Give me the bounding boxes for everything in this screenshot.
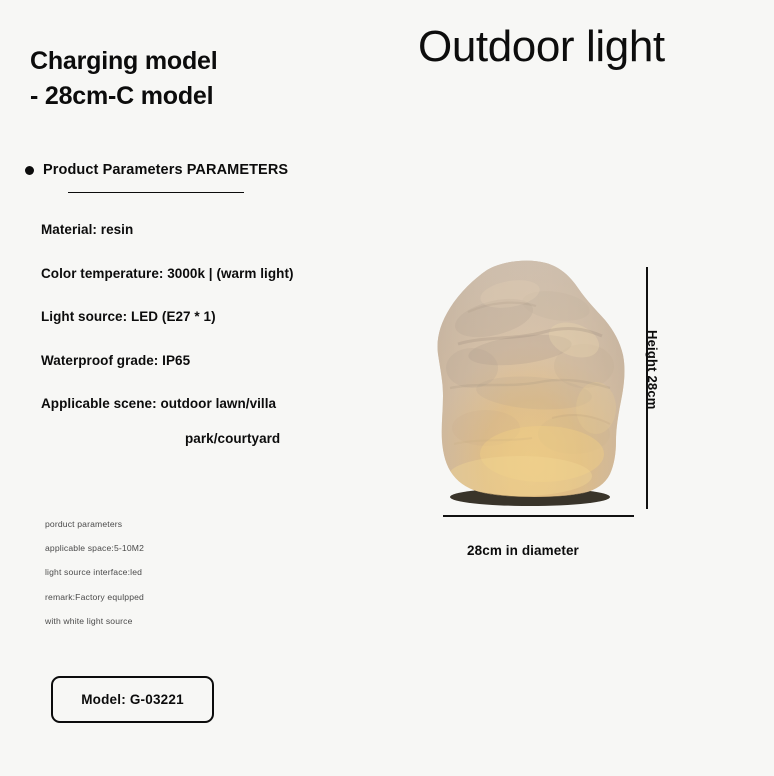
fineprint-line-5: with white light source [45, 616, 275, 626]
product-image [424, 258, 639, 516]
section-header: Product Parameters PARAMETERS [25, 162, 385, 178]
bullet-dot-icon [25, 166, 34, 175]
model-badge: Model: G-03221 [51, 676, 214, 723]
model-heading-line-2: - 28cm-C model [30, 79, 370, 114]
diameter-dimension-line [443, 515, 634, 517]
model-heading-line-1: Charging model [30, 47, 217, 75]
fineprint-line-3: light source interface:led [45, 567, 275, 577]
spec-applicable-scene-text: Applicable scene: outdoor lawn/villa [41, 396, 276, 411]
spec-list: Material: resin Color temperature: 3000k… [41, 222, 401, 446]
spec-item-applicable-scene: Applicable scene: outdoor lawn/villa par… [41, 396, 401, 446]
model-heading: Charging model - 28cm-C model [30, 44, 370, 113]
spec-item-waterproof-grade: Waterproof grade: IP65 [41, 353, 401, 368]
spec-item-color-temperature: Color temperature: 3000k | (warm light) [41, 266, 401, 281]
product-title: Outdoor light [418, 22, 665, 72]
fineprint-line-1: porduct parameters [45, 519, 275, 529]
rock-lamp-graphic [424, 258, 639, 516]
spec-applicable-scene-continuation: park/courtyard [185, 431, 401, 446]
height-dimension-label: Height 28cm [645, 330, 660, 410]
product-spec-page: Charging model - 28cm-C model Product Pa… [0, 0, 774, 776]
section-title: Product Parameters PARAMETERS [43, 162, 288, 178]
fineprint-line-4: remark:Factory equlpped [45, 592, 275, 602]
spec-item-material: Material: resin [41, 222, 401, 237]
spec-item-light-source: Light source: LED (E27 * 1) [41, 309, 401, 324]
diameter-dimension-label: 28cm in diameter [467, 543, 579, 558]
rock-lamp-photo [424, 258, 639, 516]
model-badge-label: Model: G-03221 [81, 692, 184, 707]
fineprint-block: porduct parameters applicable space:5-10… [45, 519, 275, 626]
section-header-row: Product Parameters PARAMETERS [25, 162, 385, 178]
fineprint-line-2: applicable space:5-10M2 [45, 543, 275, 553]
section-divider [68, 192, 244, 193]
